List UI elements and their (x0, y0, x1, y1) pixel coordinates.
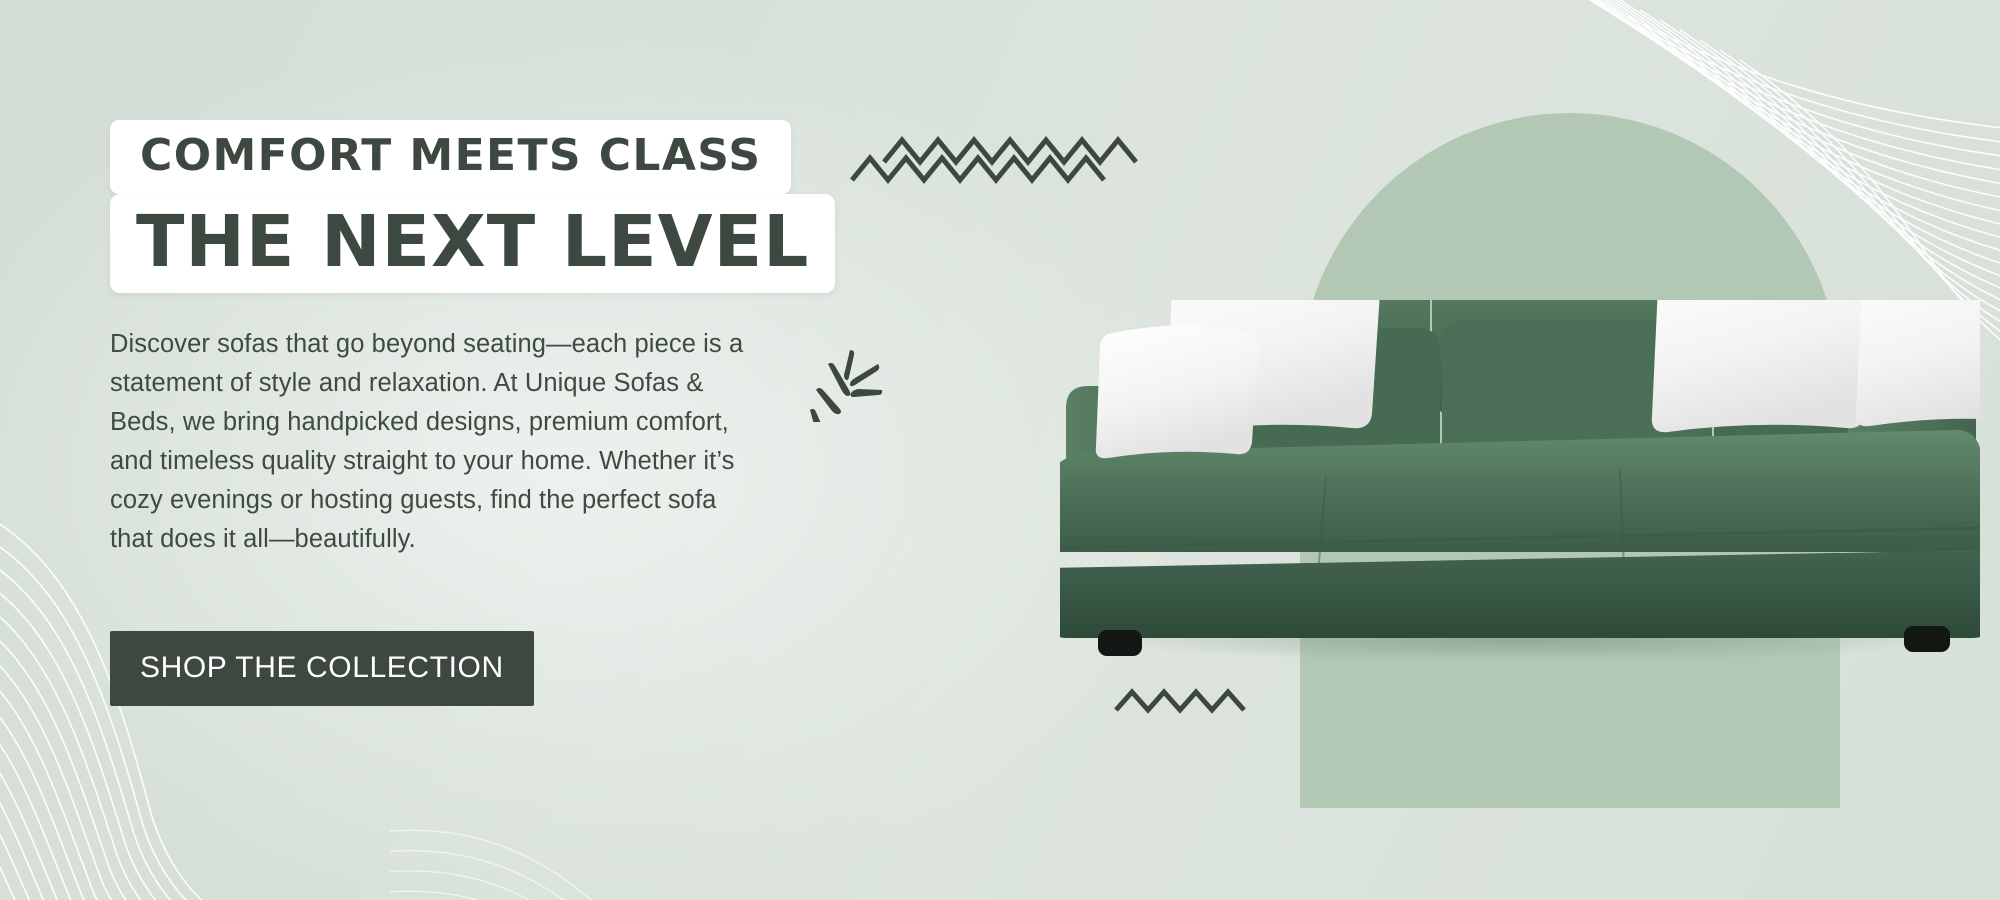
sofa-product-image (1060, 300, 1980, 660)
eyebrow-text: COMFORT MEETS CLASS (110, 120, 791, 194)
zigzag-icon (1112, 686, 1258, 716)
hero-content: COMFORT MEETS CLASS THE NEXT LEVEL Disco… (110, 120, 870, 706)
headline-wrapper: THE NEXT LEVEL (110, 194, 835, 293)
hero-banner: COMFORT MEETS CLASS THE NEXT LEVEL Disco… (0, 0, 2000, 900)
page-title: THE NEXT LEVEL (110, 194, 835, 293)
curved-lines-icon (390, 700, 910, 900)
zigzag-icon (848, 122, 1148, 184)
eyebrow-wrapper: COMFORT MEETS CLASS (110, 120, 791, 194)
body-copy: Discover sofas that go beyond seating—ea… (110, 325, 750, 559)
shop-the-collection-button[interactable]: SHOP THE COLLECTION (110, 631, 534, 706)
